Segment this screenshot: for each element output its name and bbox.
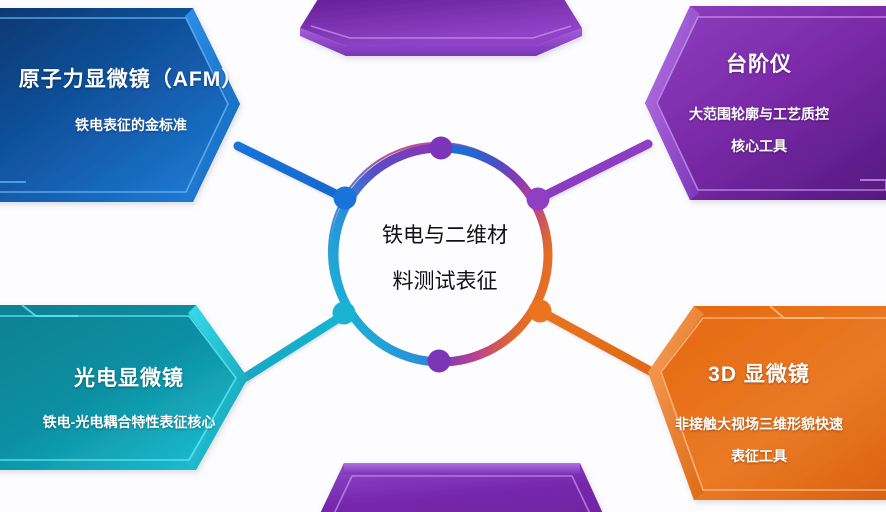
hex-panel-profiler[interactable] [645,6,886,200]
connector-optical [246,314,345,377]
dot-upper-left-icon[interactable] [334,187,357,210]
hex-top-body [300,0,582,46]
infographic-canvas: 原子力显微镜（AFM） 铁电表征的金标准 台阶仪 大范围轮廓与工艺质控 核心工具… [0,0,886,512]
hex-panel-afm[interactable] [0,8,240,202]
connector-3d [540,311,652,372]
dot-top-icon[interactable] [430,137,453,160]
connector-afm [238,146,346,199]
infographic-artwork [0,0,886,512]
hex-panel-top-blank[interactable] [300,0,582,56]
dot-bottom-icon[interactable] [428,350,451,373]
hex-panel-bottom-blank[interactable] [298,463,624,512]
hex-bottom-bevel [344,463,580,474]
connector-profiler [538,144,648,199]
dot-lower-left-icon[interactable] [333,302,356,325]
ring-arc-left [334,148,441,362]
ring-arc-right [441,148,548,362]
dot-upper-right-icon[interactable] [527,188,550,211]
center-ring [329,143,548,362]
hex-panel-optical[interactable] [0,305,248,470]
hex-panel-3d[interactable] [648,306,886,500]
dot-lower-right-icon[interactable] [529,300,552,323]
connector-lines [238,44,652,468]
